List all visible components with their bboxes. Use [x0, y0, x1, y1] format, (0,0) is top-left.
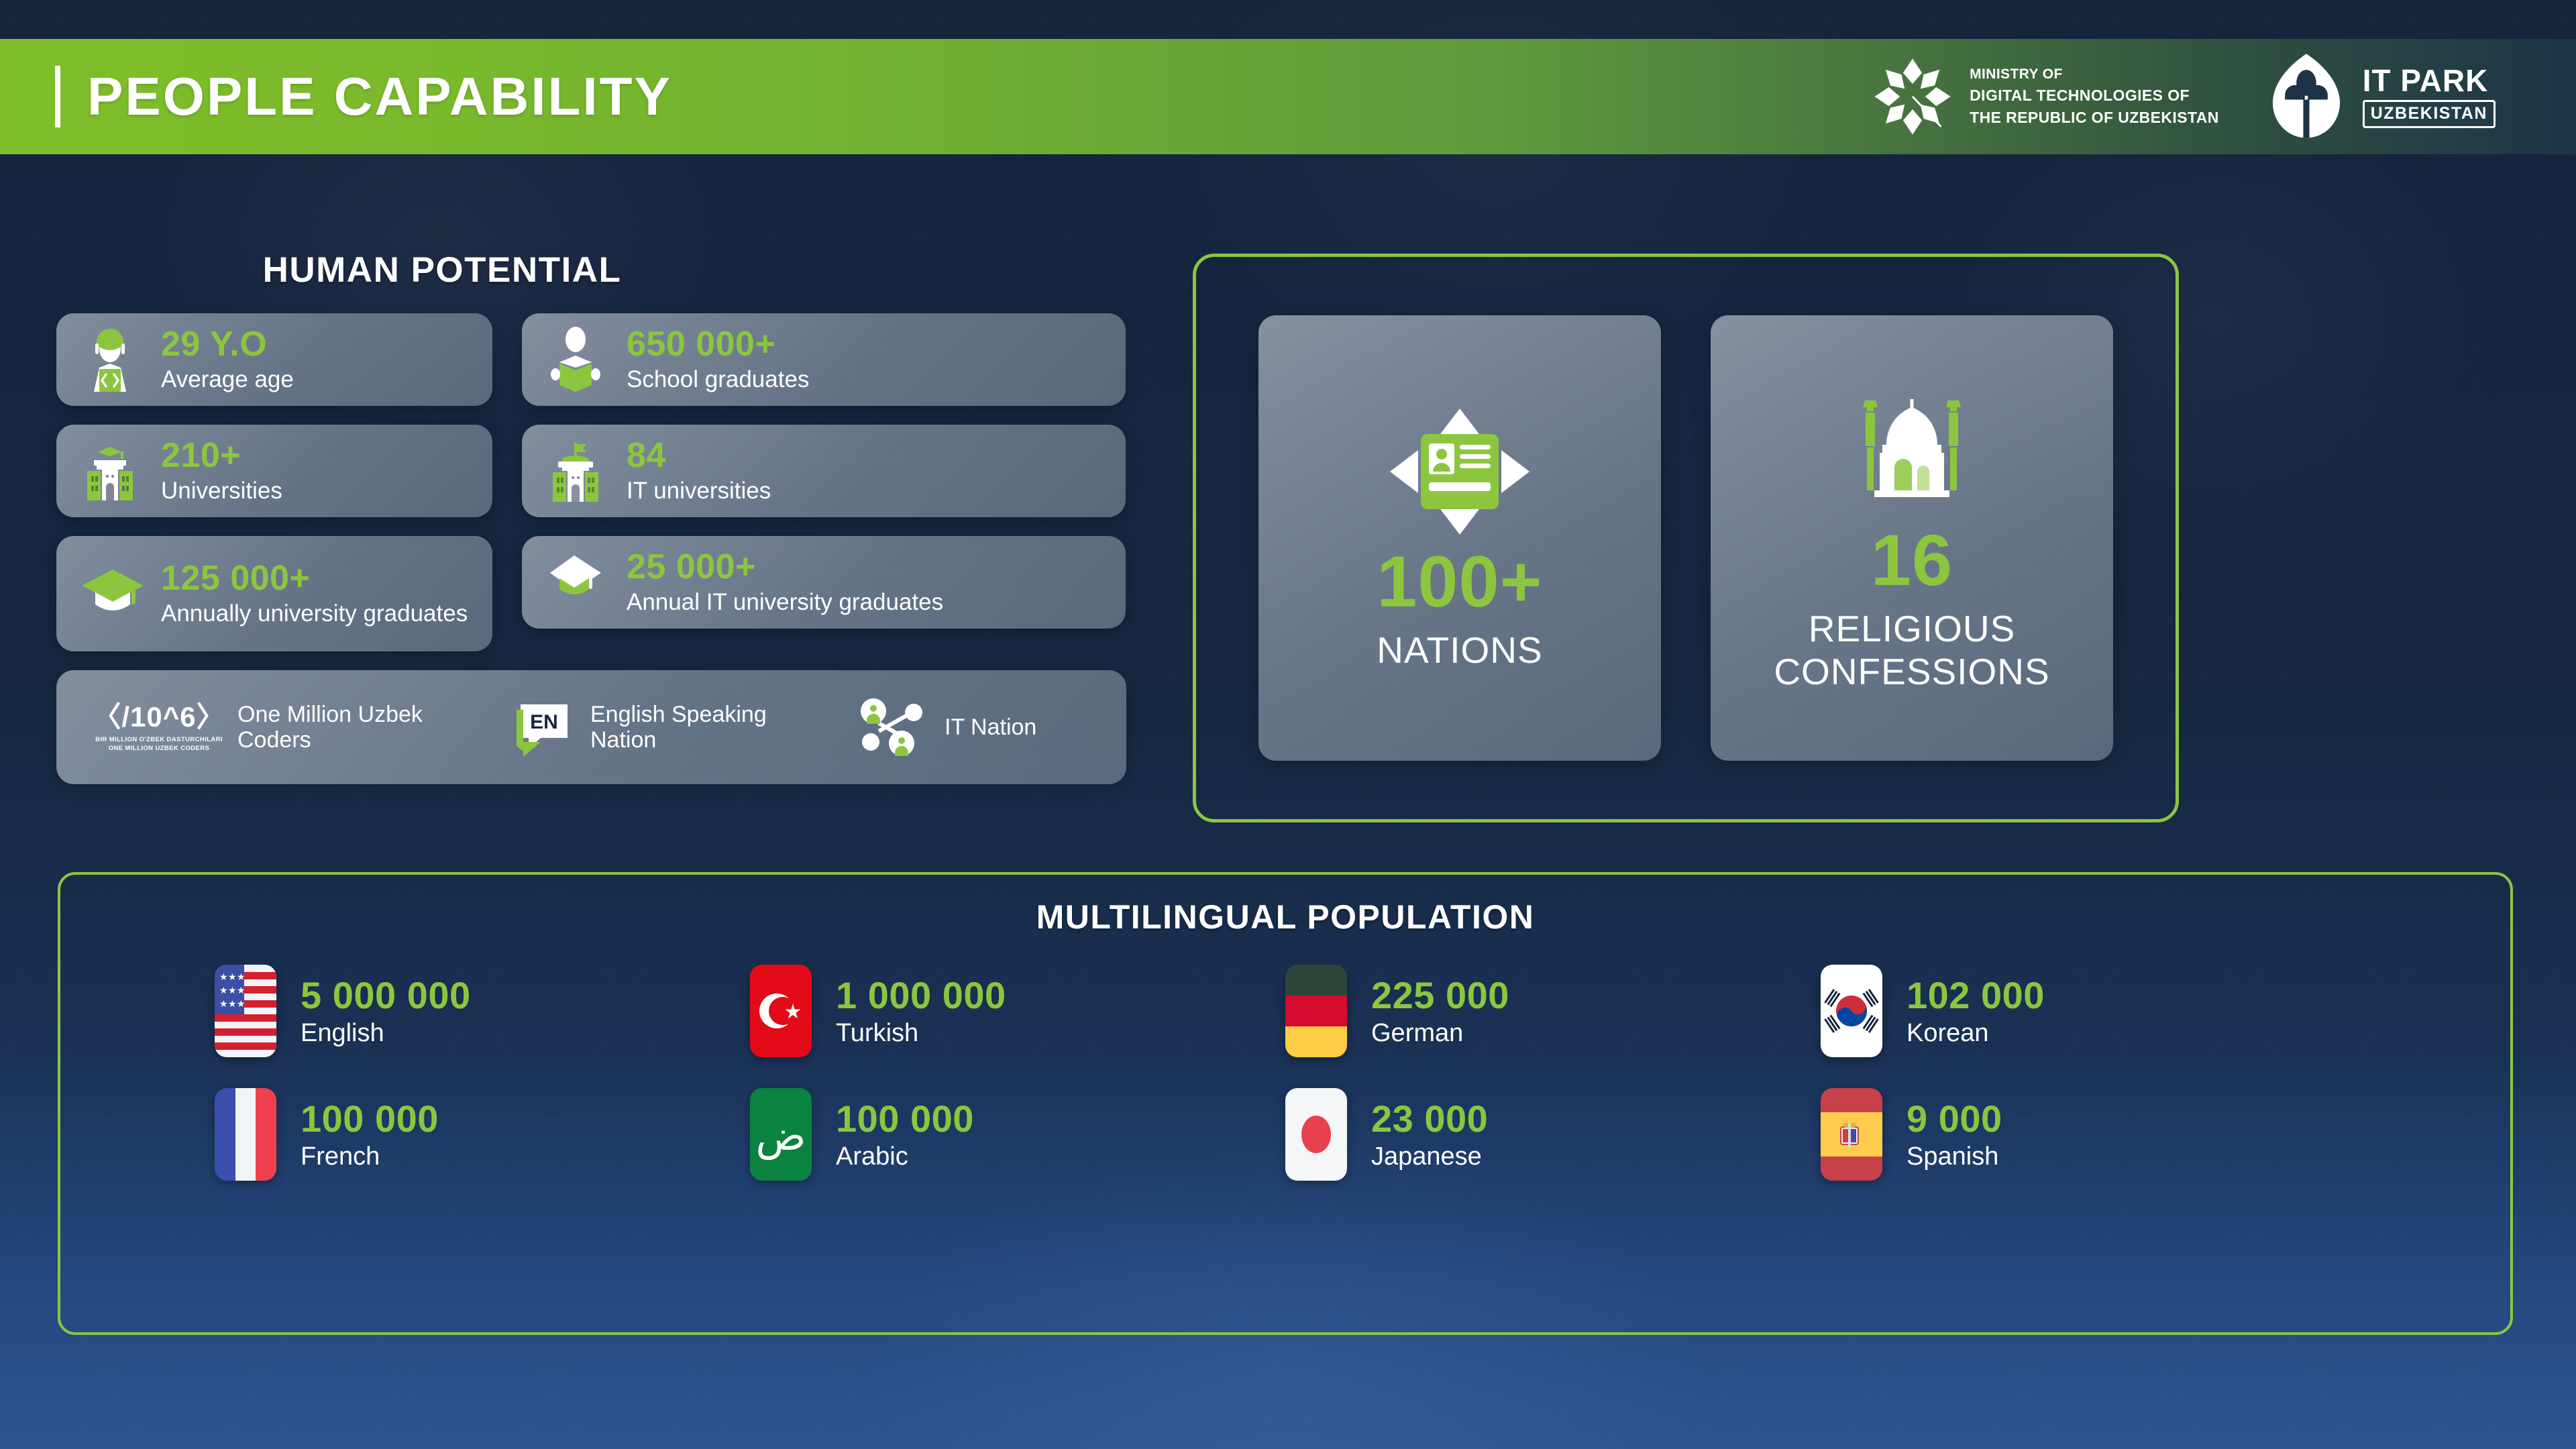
svg-text:★: ★	[219, 999, 228, 1010]
stat-card-annual-it-graduates: 25 000+ Annual IT university graduates	[522, 536, 1126, 629]
language-value: 23 000	[1371, 1099, 1488, 1139]
svg-text:ض: ض	[756, 1111, 806, 1160]
language-value: 100 000	[836, 1099, 974, 1139]
multilingual-title: MULTILINGUAL POPULATION	[60, 898, 2510, 936]
human-potential-left-column: 29 Y.O Average age	[56, 313, 492, 651]
stat-label: IT universities	[627, 478, 771, 504]
human-potential-right-column: 650 000+ School graduates	[522, 313, 1126, 651]
language-item: 225 000 German	[1285, 965, 1821, 1057]
svg-text:★: ★	[219, 985, 228, 996]
flag-spain-icon	[1821, 1088, 1882, 1181]
svg-text:★: ★	[237, 972, 246, 983]
it-university-building-icon	[545, 437, 606, 504]
language-value: 1 000 000	[836, 976, 1006, 1016]
diversity-panel: 100+ NATIONS 16 RELIGIOUS CONFES	[1193, 254, 2179, 822]
coders-icon-text: 〈/10^6〉	[93, 703, 225, 731]
card-value: 100+	[1377, 545, 1542, 618]
id-card-icon	[1386, 405, 1534, 539]
mosque-icon	[1845, 383, 1979, 517]
it-park-leaf-person-logo-icon	[2267, 52, 2345, 141]
language-label: Japanese	[1371, 1144, 1488, 1169]
language-label: Korean	[1907, 1020, 2045, 1046]
flag-germany-icon	[1285, 965, 1347, 1057]
svg-text:★: ★	[228, 972, 237, 983]
language-item: 23 000 Japanese	[1285, 1088, 1821, 1181]
english-speaking-nation-icon: EN	[511, 695, 576, 759]
svg-text:★: ★	[219, 972, 228, 983]
reading-person-icon	[545, 326, 606, 393]
card-nations: 100+ NATIONS	[1258, 315, 1661, 761]
language-label: Arabic	[836, 1144, 974, 1169]
language-label: German	[1371, 1020, 1509, 1046]
card-religious-confessions: 16 RELIGIOUS CONFESSIONS	[1711, 315, 2113, 761]
language-value: 5 000 000	[301, 976, 471, 1016]
page-title: PEOPLE CAPABILITY	[87, 66, 672, 127]
it-park-logo: IT PARK UZBEKISTAN	[2267, 52, 2495, 141]
svg-text:★: ★	[237, 985, 246, 996]
badge-label: English Speaking Nation	[590, 702, 792, 753]
human-potential-title: HUMAN POTENTIAL	[63, 250, 821, 290]
it-park-logo-text: IT PARK UZBEKISTAN	[2363, 65, 2495, 128]
language-item: 9 000 Spanish	[1821, 1088, 2356, 1181]
multilingual-population-panel: MULTILINGUAL POPULATION ★★★ ★★★ ★★★	[58, 872, 2513, 1335]
human-potential-section: HUMAN POTENTIAL	[56, 250, 1136, 784]
ministry-line-2: DIGITAL TECHNOLOGIES OF	[1970, 85, 2219, 107]
flag-south-korea-icon	[1821, 965, 1882, 1057]
graduation-cap-alt-icon	[545, 549, 606, 616]
language-label: French	[301, 1144, 439, 1169]
flag-arabic-icon: ض	[750, 1088, 812, 1181]
language-label: Turkish	[836, 1020, 1006, 1046]
language-label: English	[301, 1020, 471, 1046]
ministry-logo-text: MINISTRY OF DIGITAL TECHNOLOGIES OF THE …	[1970, 64, 2219, 128]
developer-person-icon	[79, 326, 141, 393]
svg-text:★: ★	[228, 985, 237, 996]
flag-usa-icon: ★★★ ★★★ ★★★	[215, 965, 276, 1057]
language-label: Spanish	[1907, 1144, 2002, 1169]
stat-value: 25 000+	[627, 549, 943, 586]
flag-turkey-icon: ★	[750, 965, 812, 1057]
human-potential-badges-row: 〈/10^6〉 BIR MILLION O'ZBEK DASTURCHILARI…	[56, 670, 1126, 784]
header-accent-bar	[55, 66, 60, 127]
language-value: 225 000	[1371, 976, 1509, 1016]
svg-text:★: ★	[228, 999, 237, 1010]
language-value: 102 000	[1907, 976, 2045, 1016]
stat-label: Average age	[161, 366, 294, 393]
card-label: RELIGIOUS CONFESSIONS	[1711, 607, 2113, 694]
badge-english-speaking-nation: EN English Speaking Nation	[511, 695, 860, 759]
graduation-cap-icon	[79, 560, 141, 627]
human-potential-grid: 29 Y.O Average age	[56, 313, 1136, 651]
ministry-star-logo-icon	[1873, 57, 1952, 136]
flag-japan-icon	[1285, 1088, 1347, 1181]
language-item: ★ 1 000 000 Turkish	[750, 965, 1285, 1057]
stat-label: Annually university graduates	[161, 600, 468, 627]
language-item: ★★★ ★★★ ★★★ 5 000 000 English	[215, 965, 750, 1057]
it-park-sub: UZBEKISTAN	[2363, 100, 2495, 128]
flag-france-icon	[215, 1088, 276, 1181]
ministry-line-3: THE REPUBLIC OF UZBEKISTAN	[1970, 107, 2219, 129]
badge-label: IT Nation	[945, 714, 1036, 740]
language-item: ض 100 000 Arabic	[750, 1088, 1285, 1181]
coders-icon-sub1: BIR MILLION O'ZBEK DASTURCHILARI	[95, 736, 223, 743]
language-item: 100 000 French	[215, 1088, 750, 1181]
badge-one-million-uzbek-coders: 〈/10^6〉 BIR MILLION O'ZBEK DASTURCHILARI…	[95, 702, 511, 753]
badge-it-nation: IT Nation	[860, 694, 1036, 761]
ministry-logo: MINISTRY OF DIGITAL TECHNOLOGIES OF THE …	[1873, 57, 2219, 136]
svg-text:★: ★	[237, 999, 246, 1010]
it-nation-network-icon	[860, 694, 930, 761]
stat-value: 84	[627, 437, 771, 474]
svg-text:EN: EN	[530, 711, 558, 733]
stat-card-annual-graduates: 125 000+ Annually university graduates	[56, 536, 492, 651]
stat-card-school-graduates: 650 000+ School graduates	[522, 313, 1126, 406]
stat-label: School graduates	[627, 366, 809, 393]
languages-grid: ★★★ ★★★ ★★★ 5 000 000 English ★	[60, 965, 2510, 1181]
stat-label: Universities	[161, 478, 282, 504]
university-building-icon	[79, 437, 141, 504]
badge-label: One Million Uzbek Coders	[237, 702, 459, 753]
stat-card-average-age: 29 Y.O Average age	[56, 313, 492, 406]
stat-value: 650 000+	[627, 326, 809, 363]
stat-label: Annual IT university graduates	[627, 589, 943, 616]
stat-value: 29 Y.O	[161, 326, 294, 363]
coders-icon-sub2: ONE MILLION UZBEK CODERS	[109, 745, 210, 752]
card-value: 16	[1871, 524, 1953, 596]
stat-value: 125 000+	[161, 560, 468, 597]
language-item: 102 000 Korean	[1821, 965, 2356, 1057]
one-million-uzbek-coders-icon: 〈/10^6〉 BIR MILLION O'ZBEK DASTURCHILARI…	[95, 703, 223, 752]
stat-card-it-universities: 84 IT universities	[522, 425, 1126, 517]
language-value: 100 000	[301, 1099, 439, 1139]
it-park-name: IT PARK	[2363, 65, 2495, 96]
page-header: PEOPLE CAPABILITY	[0, 39, 2576, 154]
stat-card-universities: 210+ Universities	[56, 425, 492, 517]
header-logos: MINISTRY OF DIGITAL TECHNOLOGIES OF THE …	[1873, 52, 2495, 141]
card-label: NATIONS	[1377, 629, 1542, 672]
stat-value: 210+	[161, 437, 282, 474]
svg-text:★: ★	[784, 1000, 802, 1024]
language-value: 9 000	[1907, 1099, 2002, 1139]
ministry-line-1: MINISTRY OF	[1970, 64, 2219, 85]
